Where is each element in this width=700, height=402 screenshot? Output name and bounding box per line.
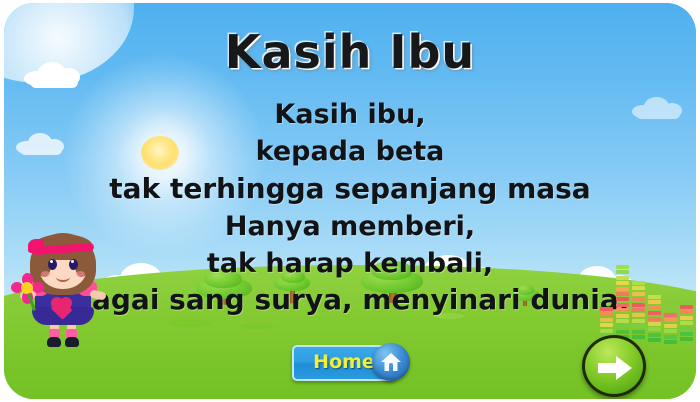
house-icon[interactable] xyxy=(372,343,410,381)
eq-bar xyxy=(664,313,677,343)
next-button[interactable] xyxy=(582,335,646,397)
lyric-line: kepada beta xyxy=(4,138,696,165)
eq-bar xyxy=(616,265,629,343)
lyric-line: tak terhingga sepanjang masa xyxy=(4,175,696,203)
hair-bow xyxy=(28,239,44,253)
grass-tuft xyxy=(240,323,274,329)
lyric-line: Kasih ibu, xyxy=(4,101,696,128)
scene-card: Kasih Ibu Kasih ibu, kepada beta tak ter… xyxy=(4,3,696,399)
page-title: Kasih Ibu xyxy=(4,25,696,79)
eq-bar xyxy=(648,295,661,343)
app-root: Kasih Ibu Kasih ibu, kepada beta tak ter… xyxy=(0,0,700,402)
arrow-right-icon xyxy=(596,353,634,383)
audio-equalizer xyxy=(600,251,696,343)
grass-tuft xyxy=(168,319,212,327)
flower-icon xyxy=(10,273,44,307)
heart-icon xyxy=(51,297,73,317)
eq-bar xyxy=(680,305,693,343)
eq-bar xyxy=(632,281,645,343)
girl-character xyxy=(10,225,125,353)
